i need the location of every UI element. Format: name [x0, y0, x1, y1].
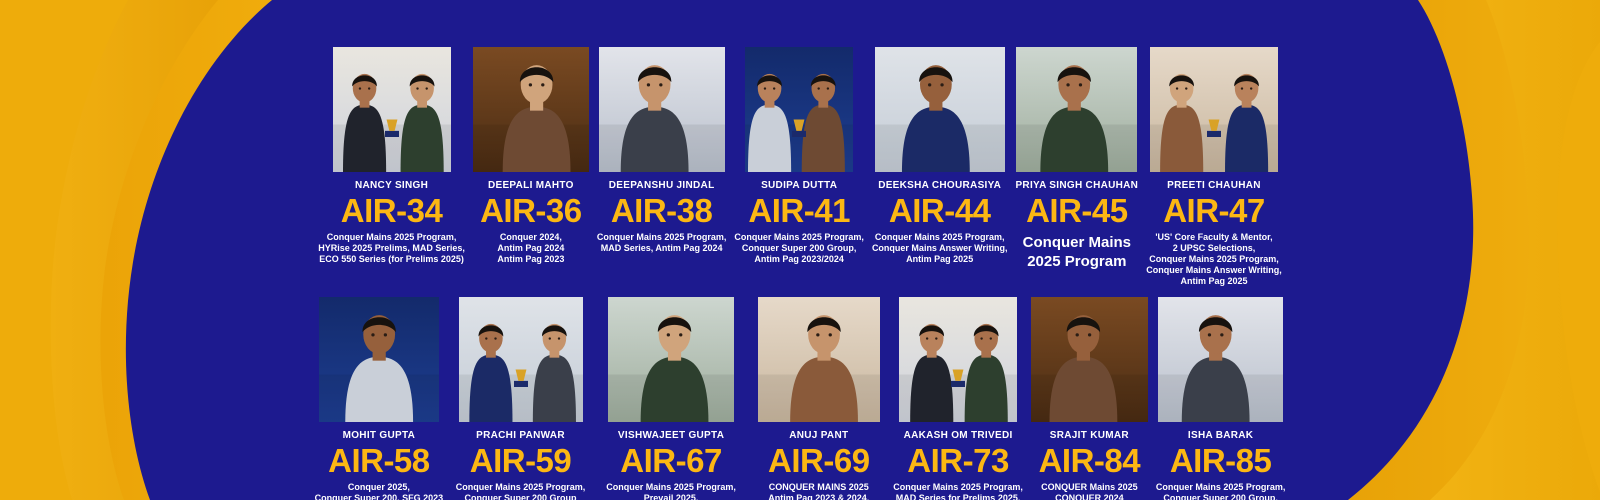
topper-card[interactable]: AAKASH OM TRIVEDIAIR-73Conquer Mains 202…: [889, 250, 1027, 500]
topper-courses: CONQUER MAINS 2025 Antim Pag 2023 & 2024…: [752, 482, 885, 500]
toppers-grid: NANCY SINGHAIR-34Conquer Mains 2025 Prog…: [248, 0, 1352, 500]
topper-air-rank: AIR-38: [611, 193, 713, 229]
topper-name: PREETI CHAUHAN: [1167, 180, 1261, 192]
topper-name: ANUJ PANT: [789, 430, 848, 442]
topper-photo-sudipa-dutta: [745, 47, 853, 172]
topper-name: MOHIT GUPTA: [343, 430, 416, 442]
topper-name: SUDIPA DUTTA: [761, 180, 837, 192]
topper-photo-mohit-gupta: [319, 297, 439, 422]
topper-name: VISHWAJEET GUPTA: [618, 430, 724, 442]
topper-air-rank: AIR-58: [328, 443, 430, 479]
topper-courses: Conquer Mains 2025 Program, Prevail 2025…: [598, 482, 744, 500]
topper-air-rank: AIR-73: [907, 443, 1009, 479]
topper-air-rank: AIR-67: [620, 443, 722, 479]
topper-air-rank: AIR-84: [1039, 443, 1141, 479]
topper-card[interactable]: SUDIPA DUTTAAIR-41Conquer Mains 2025 Pro…: [730, 0, 868, 265]
topper-photo-preeti-chauhan: [1150, 47, 1278, 172]
topper-card[interactable]: MOHIT GUPTAAIR-58Conquer 2025, Conquer S…: [311, 250, 448, 500]
topper-name: SRAJIT KUMAR: [1050, 430, 1129, 442]
topper-card[interactable]: SRAJIT KUMARAIR-84CONQUER Mains 2025 CON…: [1027, 250, 1152, 500]
topper-card[interactable]: DEEPANSHU JINDALAIR-38Conquer Mains 2025…: [593, 0, 731, 254]
topper-photo-wrap: [608, 297, 734, 422]
topper-name: ISHA BARAK: [1188, 430, 1253, 442]
topper-name: DEEPANSHU JINDAL: [609, 180, 715, 192]
topper-photo-prachi-panwar: [459, 297, 583, 422]
topper-air-rank: AIR-36: [480, 193, 582, 229]
topper-card[interactable]: DEEKSHA CHOURASIYAAIR-44Conquer Mains 20…: [868, 0, 1012, 265]
topper-photo-wrap: [899, 297, 1017, 422]
topper-photo-vishwajeet-gupta: [608, 297, 734, 422]
topper-photo-wrap: [319, 297, 439, 422]
topper-air-rank: AIR-41: [748, 193, 850, 229]
topper-card[interactable]: DEEPALI MAHTOAIR-36Conquer 2024, Antim P…: [469, 0, 593, 265]
topper-air-rank: AIR-44: [889, 193, 991, 229]
topper-photo-wrap: [1150, 47, 1278, 172]
topper-photo-nancy-singh: [333, 47, 451, 172]
topper-name: DEEPALI MAHTO: [488, 180, 574, 192]
topper-courses: Conquer 2025, Conquer Super 200, SFG 202…: [315, 482, 444, 500]
topper-courses: Conquer Mains 2025 Program, Conquer Supe…: [451, 482, 590, 500]
topper-card[interactable]: VISHWAJEET GUPTAAIR-67Conquer Mains 2025…: [594, 250, 748, 500]
topper-courses: Conquer Mains 2025 Program, MAD Series f…: [893, 482, 1023, 500]
topper-name: NANCY SINGH: [355, 180, 428, 192]
results-banner: NANCY SINGHAIR-34Conquer Mains 2025 Prog…: [0, 0, 1600, 500]
topper-air-rank: AIR-69: [768, 443, 870, 479]
topper-air-rank: AIR-34: [341, 193, 443, 229]
topper-photo-wrap: [333, 47, 451, 172]
topper-name: DEEKSHA CHOURASIYA: [878, 180, 1001, 192]
topper-card[interactable]: PRIYA SINGH CHAUHANAIR-45Conquer Mains 2…: [1011, 0, 1142, 271]
topper-courses: Conquer Mains 2025 Program, Conquer Supe…: [1156, 482, 1286, 500]
topper-photo-wrap: [473, 47, 589, 172]
topper-card[interactable]: PRACHI PANWARAIR-59Conquer Mains 2025 Pr…: [447, 250, 594, 500]
topper-photo-wrap: [459, 297, 583, 422]
topper-photo-priya-singh-chauhan: [1016, 47, 1137, 172]
topper-photo-deeksha-chourasiya: [875, 47, 1005, 172]
topper-air-rank: AIR-85: [1170, 443, 1272, 479]
topper-photo-isha-barak: [1158, 297, 1283, 422]
topper-air-rank: AIR-45: [1026, 193, 1128, 229]
topper-name: PRIYA SINGH CHAUHAN: [1015, 180, 1138, 192]
topper-card[interactable]: NANCY SINGHAIR-34Conquer Mains 2025 Prog…: [314, 0, 469, 265]
toppers-row: MOHIT GUPTAAIR-58Conquer 2025, Conquer S…: [248, 250, 1352, 500]
topper-photo-deepanshu-jindal: [599, 47, 725, 172]
topper-photo-wrap: [599, 47, 725, 172]
topper-card[interactable]: PREETI CHAUHANAIR-47'US' Core Faculty & …: [1142, 0, 1286, 287]
topper-courses: CONQUER Mains 2025 CONQUER 2024: [1041, 482, 1138, 500]
topper-air-rank: AIR-59: [470, 443, 572, 479]
topper-photo-anuj-pant: [758, 297, 880, 422]
topper-name: PRACHI PANWAR: [476, 430, 565, 442]
toppers-row: NANCY SINGHAIR-34Conquer Mains 2025 Prog…: [248, 0, 1352, 250]
topper-photo-wrap: [1031, 297, 1148, 422]
topper-card[interactable]: ISHA BARAKAIR-85Conquer Mains 2025 Progr…: [1152, 250, 1290, 500]
topper-photo-wrap: [1158, 297, 1283, 422]
topper-photo-aakash-om-trivedi: [899, 297, 1017, 422]
topper-photo-wrap: [745, 47, 853, 172]
topper-photo-srajit-kumar: [1031, 297, 1148, 422]
topper-photo-wrap: [875, 47, 1005, 172]
topper-name: AAKASH OM TRIVEDI: [904, 430, 1013, 442]
topper-photo-wrap: [1016, 47, 1137, 172]
topper-air-rank: AIR-47: [1163, 193, 1265, 229]
topper-card[interactable]: ANUJ PANTAIR-69CONQUER MAINS 2025 Antim …: [748, 250, 889, 500]
topper-photo-wrap: [758, 297, 880, 422]
topper-photo-deepali-mahto: [473, 47, 589, 172]
